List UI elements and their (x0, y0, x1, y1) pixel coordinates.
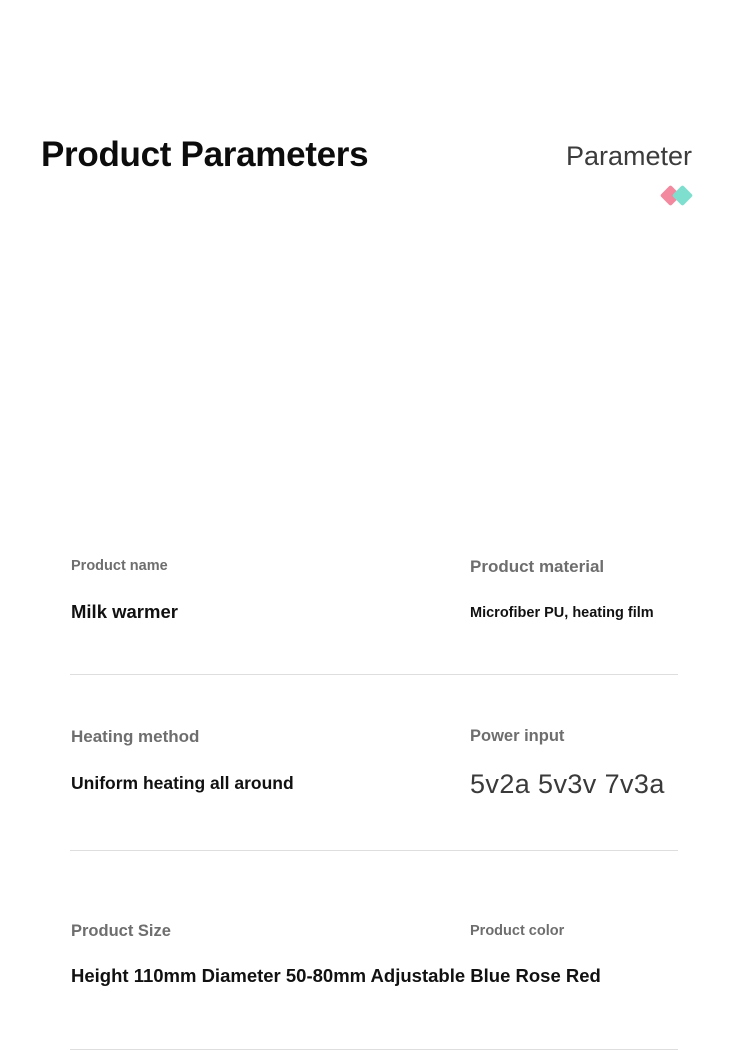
row-divider (70, 850, 678, 851)
diamond-accent-group (660, 185, 700, 207)
page-header: Product Parameters Parameter (0, 132, 750, 212)
spec-value-product-material: Microfiber PU, heating film (470, 605, 654, 621)
page-title: Product Parameters (41, 132, 368, 178)
spec-label-product-size: Product Size (71, 922, 171, 941)
product-parameters-page: Product Parameters Parameter Product nam… (0, 0, 750, 824)
spec-value-product-name: Milk warmer (71, 601, 178, 623)
spec-value-power-input: 5v2a 5v3v 7v3a (470, 769, 665, 800)
section-eyebrow-label: Parameter (566, 139, 692, 173)
spec-label-heating-method: Heating method (71, 727, 199, 747)
row-divider (70, 674, 678, 675)
spec-value-size-and-color: Height 110mm Diameter 50-80mm Adjustable… (71, 965, 601, 987)
spec-label-product-material: Product material (470, 557, 604, 577)
spec-label-power-input: Power input (470, 727, 564, 746)
spec-label-product-color: Product color (470, 923, 564, 939)
spec-label-product-name: Product name (71, 558, 168, 574)
spec-value-heating-method: Uniform heating all around (71, 773, 294, 794)
diamond-teal-icon (672, 185, 693, 206)
